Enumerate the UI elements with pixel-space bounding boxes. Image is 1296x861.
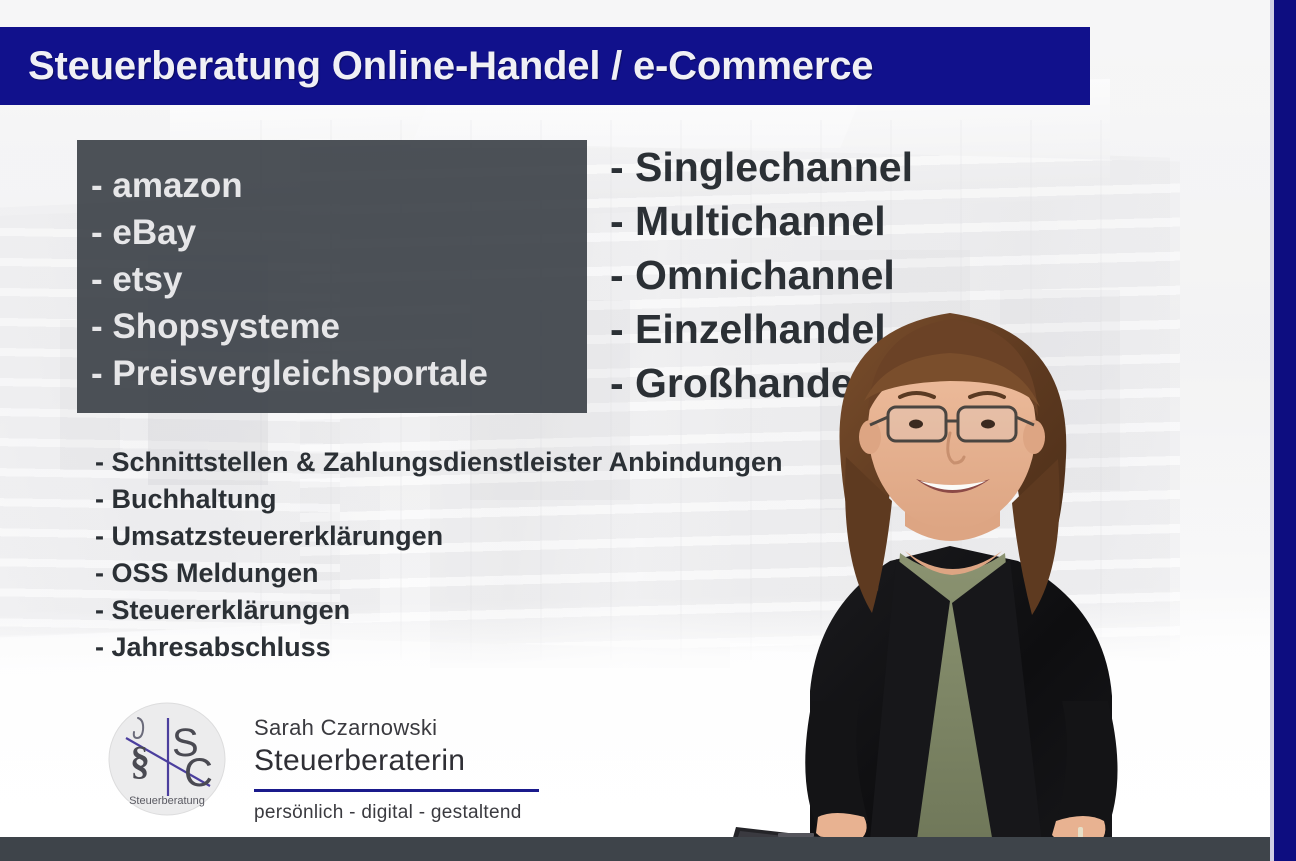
list-item: - eBay — [91, 209, 587, 256]
portrait-illustration — [700, 261, 1220, 861]
frame-bottom-bar — [0, 837, 1274, 861]
signature-role: Steuerberaterin — [254, 742, 539, 780]
signature-tagline: persönlich - digital - gestaltend — [254, 802, 539, 824]
signature-text-block: Sarah Czarnowski Steuerberaterin persönl… — [254, 700, 539, 824]
slide-root: Steuerberatung Online-Handel / e-Commerc… — [0, 0, 1296, 861]
services-list: - Schnittstellen & Zahlungsdienstleister… — [95, 444, 783, 666]
list-item: - amazon — [91, 162, 587, 209]
svg-text:C: C — [184, 751, 213, 795]
platforms-list: - amazon - eBay - etsy - Shopsysteme - P… — [91, 162, 587, 397]
list-item: - Multichannel — [610, 194, 913, 248]
list-item: - Preisvergleichsportale — [91, 350, 587, 397]
svg-text:§: § — [130, 738, 150, 783]
signature-rule — [254, 789, 539, 792]
logo-caption: Steuerberatung — [129, 795, 205, 807]
list-item: - Schnittstellen & Zahlungsdienstleister… — [95, 444, 783, 481]
platforms-panel: - amazon - eBay - etsy - Shopsysteme - P… — [77, 140, 587, 413]
list-item: - Shopsysteme — [91, 303, 587, 350]
list-item: - Singlechannel — [610, 140, 913, 194]
title-banner: Steuerberatung Online-Handel / e-Commerc… — [0, 27, 1090, 105]
footer-signature: § S C Steuerberatung Sarah Czarnowski St… — [108, 700, 539, 824]
signature-name: Sarah Czarnowski — [254, 714, 539, 742]
list-item: - etsy — [91, 256, 587, 303]
list-item: - Steuererklärungen — [95, 592, 783, 629]
company-logo: § S C Steuerberatung — [108, 700, 226, 818]
portrait-photo — [700, 261, 1220, 861]
list-item: - OSS Meldungen — [95, 555, 783, 592]
list-item: - Umsatzsteuererklärungen — [95, 518, 783, 555]
list-item: - Jahresabschluss — [95, 629, 783, 666]
frame-right-bar — [1274, 0, 1296, 861]
list-item: - Buchhaltung — [95, 481, 783, 518]
page-title: Steuerberatung Online-Handel / e-Commerc… — [0, 44, 873, 89]
logo-sc-icon: § S C Steuerberatung — [108, 700, 226, 818]
